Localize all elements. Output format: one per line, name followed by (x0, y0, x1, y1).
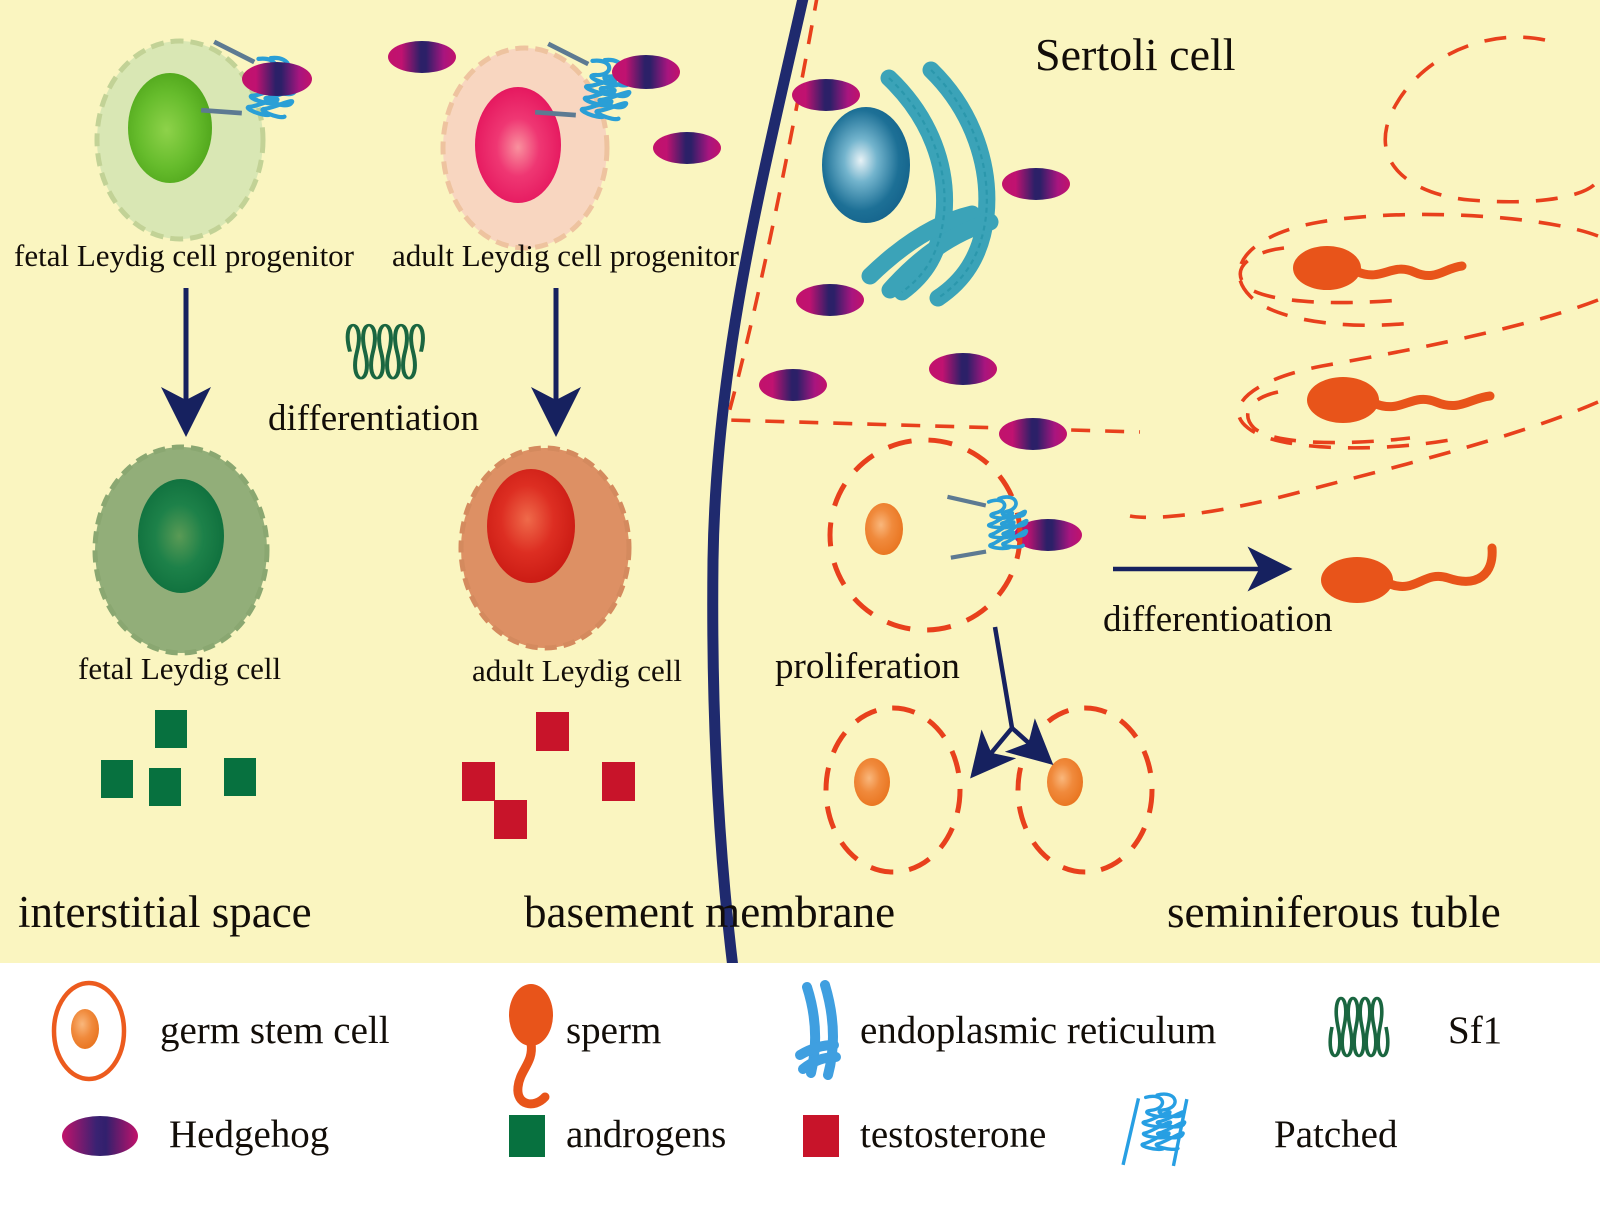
diagram-canvas (0, 0, 1600, 963)
legend-label-hedgehog: Hedgehog (169, 1115, 329, 1154)
legend-label-sperm: sperm (566, 1011, 661, 1050)
legend-label-sf1: Sf1 (1448, 1011, 1502, 1050)
adult-leydig-cell-progenitor (443, 48, 607, 248)
testosterone-icon (494, 800, 527, 839)
germ-cell-nucleus (1047, 758, 1083, 806)
hedgehog-icon (792, 79, 860, 111)
androgens-icon (149, 768, 181, 806)
hedgehog-icon (612, 55, 680, 89)
androgens-icon (155, 710, 187, 748)
legend-androgens-icon (509, 1115, 545, 1157)
testosterone-group (462, 712, 635, 839)
testosterone-icon (602, 762, 635, 801)
cell-nucleus (138, 479, 224, 593)
label-seminiferous-tubule: seminiferous tuble (1167, 890, 1501, 935)
germ-cell-outline (1018, 708, 1152, 872)
germ-stem-cell (826, 708, 960, 872)
germ-cell-nucleus (865, 503, 903, 555)
hedgehog-icon (999, 418, 1067, 450)
label-interstitial-space: interstitial space (18, 890, 312, 935)
legend-testosterone-icon (803, 1115, 839, 1157)
legend-label-endoplasmic-reticulum: endoplasmic reticulum (860, 1011, 1216, 1050)
label-fetal-leydig-cell-progenitor: fetal Leydig cell progenitor (14, 240, 354, 271)
androgens-icon (224, 758, 256, 796)
legend-patched-icon (1123, 1090, 1188, 1173)
hedgehog-icon (796, 284, 864, 316)
legend-sperm-icon (509, 984, 553, 1104)
germ-stem-cell (1018, 708, 1152, 872)
sperm-icon (1293, 246, 1462, 290)
androgen-group (101, 710, 256, 806)
fetal-leydig-cell-progenitor (97, 41, 263, 239)
figure-root: fetal Leydig cell progenitor adult Leydi… (0, 0, 1600, 1230)
legend-panel: germ stem cell sperm endoplasmic reticul… (0, 963, 1600, 1230)
hedgehog-icon (653, 132, 721, 164)
germ-cell-outline (826, 708, 960, 872)
hedgehog-icon (242, 62, 312, 96)
legend-canvas (0, 963, 1600, 1230)
adult-leydig-cell (461, 448, 629, 648)
legend-hedgehog-icon (62, 1116, 138, 1156)
sperm-icon (1321, 548, 1492, 603)
cell-nucleus (487, 469, 575, 583)
patched-icon (945, 495, 1027, 560)
label-fetal-leydig-cell: fetal Leydig cell (78, 653, 281, 684)
legend-label-androgens: androgens (566, 1115, 726, 1154)
diagram-panel: fetal Leydig cell progenitor adult Leydi… (0, 0, 1600, 963)
label-adult-leydig-cell: adult Leydig cell (472, 655, 682, 686)
label-basement-membrane: basement membrane (524, 890, 895, 935)
legend-label-testosterone: testosterone (860, 1115, 1046, 1154)
legend-sf1-icon (1330, 998, 1388, 1056)
hedgehog-group-tubule (759, 79, 1082, 551)
label-differentiation-left: differentiation (268, 400, 479, 437)
legend-label-germ-stem-cell: germ stem cell (160, 1011, 390, 1050)
germ-cell-nucleus (854, 758, 890, 806)
label-adult-leydig-cell-progenitor: adult Leydig cell progenitor (392, 240, 739, 271)
hedgehog-icon (929, 353, 997, 385)
legend-endoplasmic-reticulum-icon (800, 985, 836, 1075)
hedgehog-icon (1002, 168, 1070, 200)
hedgehog-icon (388, 41, 456, 73)
label-differentiation-right: differentioation (1103, 601, 1332, 638)
testosterone-icon (462, 762, 495, 801)
sperm-icon (1307, 377, 1490, 423)
legend-germ-stem-cell-icon (54, 983, 124, 1079)
cell-nucleus (128, 73, 212, 183)
label-sertoli-cell: Sertoli cell (1035, 32, 1236, 78)
fetal-leydig-cell (95, 447, 267, 653)
basement-membrane-curve (713, 0, 804, 968)
testosterone-icon (536, 712, 569, 751)
hedgehog-icon (759, 369, 827, 401)
androgens-icon (101, 760, 133, 798)
cell-nucleus (475, 87, 561, 203)
sf1-icon (348, 325, 423, 378)
proliferation-arrows (973, 627, 1050, 775)
label-proliferation: proliferation (775, 648, 960, 685)
sertoli-nucleus (822, 107, 910, 223)
legend-label-patched: Patched (1274, 1115, 1397, 1154)
